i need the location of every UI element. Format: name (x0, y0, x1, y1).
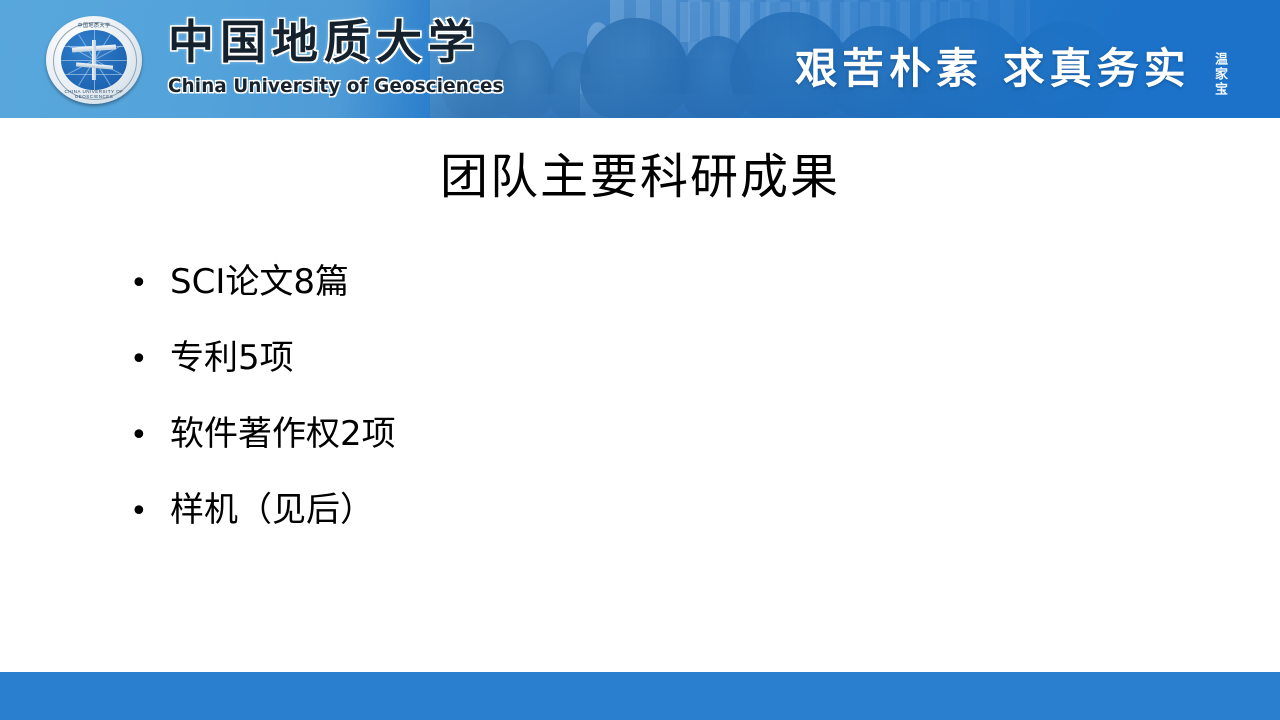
list-item: • 专利5项 (130, 336, 1160, 412)
list-item-label: 软件著作权2项 (170, 412, 396, 456)
slide-title: 团队主要科研成果 (0, 148, 1280, 206)
university-motto: 艰苦朴素 求真务实 (795, 46, 1191, 92)
bullet-dot-icon: • (130, 492, 170, 532)
university-name-en: China University of Geosciences (168, 75, 468, 97)
bullet-dot-icon: • (130, 264, 170, 304)
list-item-label: SCI论文8篇 (170, 260, 349, 304)
motto-signature-seal: 温家宝 (1207, 52, 1227, 97)
university-wordmark: 中国地质大学 China University of Geosciences (168, 17, 480, 101)
university-name-cn: 中国地质大学 (168, 17, 480, 67)
list-item: • SCI论文8篇 (130, 260, 1160, 336)
list-item-label: 专利5项 (170, 336, 294, 380)
bullet-dot-icon: • (130, 416, 170, 456)
seal-ring-text-en: CHINA UNIVERSITY OF GEOSCIENCES (46, 89, 142, 99)
geology-hammer-cross-icon (76, 62, 113, 69)
list-item-label: 样机（见后） (170, 488, 374, 532)
list-item: • 软件著作权2项 (130, 412, 1160, 488)
slide-header-banner: 中国地质大学 CHINA UNIVERSITY OF GEOSCIENCES 中… (0, 0, 1280, 118)
list-item: • 样机（见后） (130, 488, 1160, 564)
slide-footer-bar (0, 672, 1280, 720)
presentation-slide: 中国地质大学 CHINA UNIVERSITY OF GEOSCIENCES 中… (0, 0, 1280, 720)
seal-ring-text-cn: 中国地质大学 (46, 22, 142, 29)
geology-hammer-handle-icon (92, 40, 96, 81)
seal-globe (61, 30, 126, 90)
bullet-dot-icon: • (130, 340, 170, 380)
slide-bullet-list: • SCI论文8篇 • 专利5项 • 软件著作权2项 • 样机（见后） (130, 260, 1160, 564)
university-seal-icon: 中国地质大学 CHINA UNIVERSITY OF GEOSCIENCES (46, 16, 142, 104)
